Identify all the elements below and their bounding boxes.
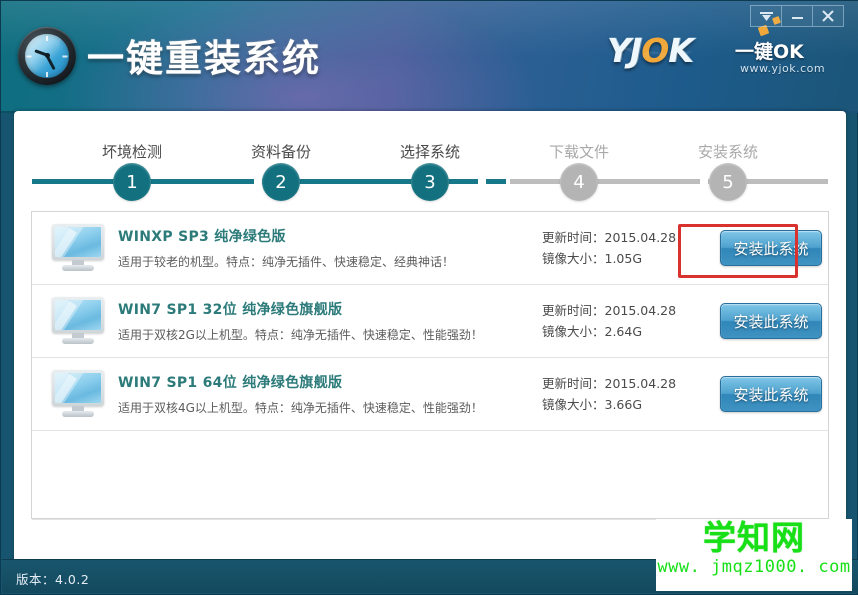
list-item[interactable]: WIN7 SP1 64位 纯净绿色旗舰版 适用于双核4G以上机型。特点：纯净无插… [32,358,828,431]
update-time: 更新时间：2015.04.28 [542,227,712,248]
minimize-icon[interactable] [782,5,813,27]
step-label-4: 下载文件 [549,141,609,162]
step-label-1: 坏境检测 [102,141,162,162]
step-indicator: 坏境检测 资料备份 选择系统 下载文件 安装系统 1 2 3 4 5 [14,111,846,203]
list-item[interactable]: WIN7 SP1 32位 纯净绿色旗舰版 适用于双核2G以上机型。特点：纯净无插… [32,285,828,358]
window-controls [750,5,844,27]
system-description: 适用于双核4G以上机型。特点：纯净无插件、快速稳定、性能强劲！ [118,399,538,416]
monitor-icon [50,370,106,418]
app-title: 一键重装系统 [87,28,321,82]
brand-tagline: 一键OK [735,37,804,64]
watermark-url: www. jmqz1000. com [656,557,852,577]
system-description: 适用于双核2G以上机型。特点：纯净无插件、快速稳定、性能强劲！ [118,326,538,343]
step-circle-3[interactable]: 3 [411,163,449,201]
step-circle-2[interactable]: 2 [262,163,300,201]
update-time: 更新时间：2015.04.28 [542,373,712,394]
brand-wordmark-reflection: YJOK [607,48,693,68]
watermark: 学知网 www. jmqz1000. com [656,519,852,591]
brand-url: www.yjok.com [740,62,825,75]
list-item[interactable]: WINXP SP3 纯净绿色版 适用于较老的机型。特点：纯净无插件、快速稳定、经… [32,212,828,285]
install-button[interactable]: 安装此系统 [720,376,822,412]
image-size: 镜像大小：2.64G [542,321,712,342]
close-icon[interactable] [813,5,844,27]
step-label-5: 安装系统 [698,141,758,162]
system-description: 适用于较老的机型。特点：纯净无插件、快速稳定、经典神话！ [118,253,538,270]
step-circle-4[interactable]: 4 [560,163,598,201]
system-title: WIN7 SP1 32位 纯净绿色旗舰版 [118,299,538,319]
system-title: WINXP SP3 纯净绿色版 [118,226,538,246]
system-title: WIN7 SP1 64位 纯净绿色旗舰版 [118,372,538,392]
step-label-3: 选择系统 [400,141,460,162]
content-panel: 坏境检测 资料备份 选择系统 下载文件 安装系统 1 2 3 4 5 WINXP… [14,111,846,563]
watermark-name: 学知网 [656,519,852,557]
step-track-3b [510,179,700,184]
step-circle-5[interactable]: 5 [709,163,747,201]
monitor-icon [50,297,106,345]
install-button[interactable]: 安装此系统 [720,303,822,339]
monitor-icon [50,224,106,272]
step-label-2: 资料备份 [251,141,311,162]
image-size: 镜像大小：3.66G [542,394,712,415]
install-button[interactable]: 安装此系统 [720,230,822,266]
version-label: 版本：4.0.2 [16,569,89,588]
clock-logo-icon [18,27,76,85]
brand-logo: YJOK YJOK 一键OK www.yjok.com [607,31,837,89]
title-bar: 一键重装系统 一键重装系统 YJOK YJOK 一键OK www.yjok.co… [1,1,858,113]
list-empty-area [32,431,828,520]
step-track-3a [486,179,506,184]
image-size: 镜像大小：1.05G [542,248,712,269]
app-window: 一键重装系统 一键重装系统 YJOK YJOK 一键OK www.yjok.co… [0,0,858,595]
collapse-icon[interactable] [750,5,782,27]
update-time: 更新时间：2015.04.28 [542,300,712,321]
system-list: WINXP SP3 纯净绿色版 适用于较老的机型。特点：纯净无插件、快速稳定、经… [31,211,829,519]
step-circle-1[interactable]: 1 [113,163,151,201]
